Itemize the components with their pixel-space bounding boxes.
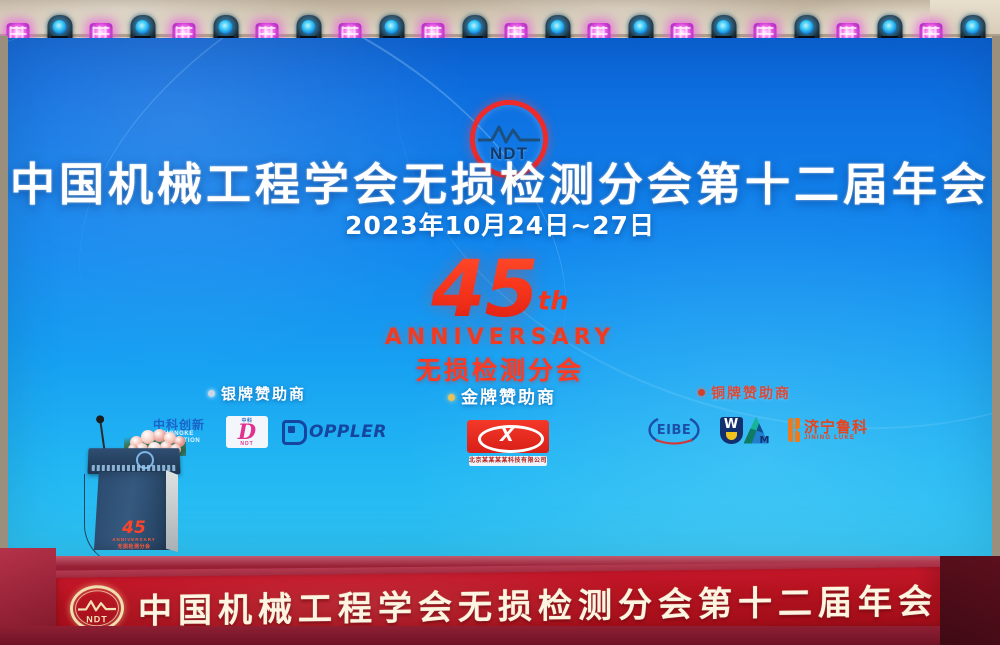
bullet-icon: [698, 389, 705, 396]
banner-ndt-waveform-icon: [78, 598, 116, 613]
head-lens: [717, 20, 731, 34]
banner-ndt-text: NDT: [70, 614, 124, 625]
sponsor-logo-luke-cn: 济宁鲁科: [804, 420, 868, 435]
banner-title: 中国机械工程学会无损检测分会第十二届年会: [138, 573, 938, 632]
carpet-front: [0, 626, 1000, 645]
head-lens: [634, 20, 648, 34]
sponsor-tier-gold-label: 金牌赞助商: [448, 383, 556, 408]
stage-floor-right-shadow: [940, 556, 1000, 645]
podium-side-panel: [166, 470, 178, 552]
sponsor-logo-gold-x: X 北京某某某某科技有限公司: [467, 420, 549, 466]
podium-title-strip: [92, 465, 177, 471]
sponsor-logo-wm: W M: [718, 415, 770, 445]
sponsor-logos-bronze: EIBE W M 济宁鲁科 JINING LUKE: [648, 415, 868, 445]
head-lens: [302, 20, 316, 34]
event-date: 2023年10月24日~27日: [8, 206, 992, 242]
sponsor-logo-gold-mark: X: [500, 425, 514, 447]
head-lens: [468, 20, 482, 34]
anniversary-ordinal: th: [538, 287, 569, 317]
head-lens: [800, 20, 814, 34]
sponsor-logo-wm-right: M: [760, 435, 770, 446]
sponsor-logo-doppler-text: OPPLER: [309, 422, 387, 442]
sponsor-logo-doppler-monogram: [282, 420, 307, 445]
banner-ndt-logo: NDT: [70, 585, 124, 632]
sponsor-logo-ndt-pink-sub: NDT: [240, 441, 253, 447]
sponsor-logos-gold: X 北京某某某某科技有限公司: [460, 420, 556, 466]
head-lens: [966, 20, 980, 34]
microphone-cable: [84, 474, 131, 565]
anniversary-chinese: 无损检测分会: [8, 351, 992, 387]
anniversary-block: 45th ANNIVERSARY 无损检测分会: [8, 253, 992, 387]
sponsor-logo-wm-left: W: [720, 417, 743, 444]
sponsor-logo-eibe: EIBE: [648, 415, 700, 445]
sponsor-logo-doppler: OPPLER: [282, 420, 387, 445]
bullet-icon: [208, 390, 215, 397]
head-lens: [219, 20, 233, 34]
sponsor-logo-ndt-pink-mark: D: [238, 424, 256, 441]
head-lens: [136, 20, 150, 34]
sponsor-logo-gold-caption: 北京某某某某科技有限公司: [469, 456, 547, 466]
head-lens: [883, 20, 897, 34]
bullet-icon: [448, 394, 455, 401]
sponsor-tier-silver: 银牌赞助商 中科创新 HONGKE INNOVATION 中科 D NDT: [208, 383, 387, 448]
anniversary-number: 45: [431, 253, 538, 327]
podium-top-panel: [87, 448, 180, 474]
luke-bars-icon: [788, 418, 800, 442]
sponsor-logo-ndt-pink: 中科 D NDT: [226, 416, 268, 448]
sponsor-tier-gold: 金牌赞助商 X 北京某某某某科技有限公司: [448, 383, 556, 466]
head-lens: [551, 20, 565, 34]
sponsor-tier-bronze: 铜牌赞助商 EIBE W M: [698, 383, 868, 445]
conference-stage-photo: NDT 中国机械工程学会无损检测分会第十二届年会 2023年10月24日~27日…: [0, 0, 1000, 645]
sponsor-logo-jining-luke: 济宁鲁科 JINING LUKE: [788, 418, 868, 442]
sponsor-tier-silver-label: 银牌赞助商: [208, 383, 387, 404]
sponsor-logo-eibe-text: EIBE: [648, 415, 700, 445]
head-lens: [53, 20, 67, 34]
speaker-podium: 45 ANNIVERSARY 无损检测分会: [80, 420, 185, 570]
sponsor-tier-bronze-label: 铜牌赞助商: [698, 383, 868, 403]
head-lens: [385, 20, 399, 34]
page-title: 中国机械工程学会无损检测分会第十二届年会: [8, 148, 992, 213]
